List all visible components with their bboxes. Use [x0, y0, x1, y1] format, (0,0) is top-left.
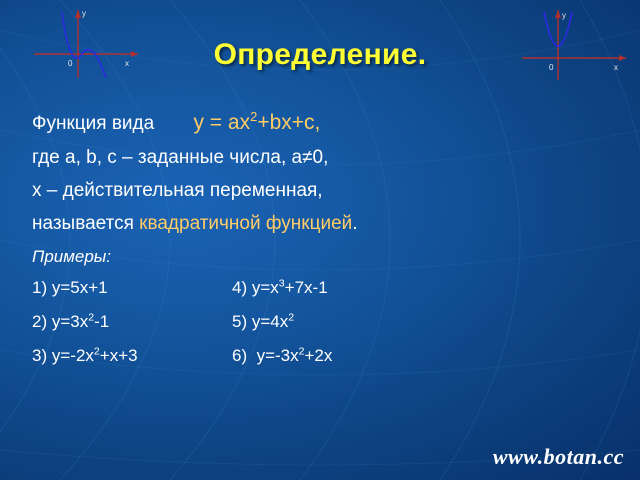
- example-base: y=4x: [252, 312, 288, 331]
- definition-line-4-prefix: называется: [32, 213, 139, 234]
- example-item: 2) y=3x2-1: [32, 312, 232, 332]
- example-number: 5): [232, 312, 247, 331]
- example-row: 3) y=-2x2+x+3 6) y=-3x2+2x: [32, 346, 624, 366]
- example-tail: +x+3: [100, 346, 138, 365]
- example-row: 1) y=5x+1 4) y=x3+7x-1: [32, 278, 624, 298]
- definition-line-1-prefix: Функция вида: [32, 113, 154, 134]
- definition-line-3: х – действительная переменная,: [32, 181, 624, 200]
- example-base: y=x: [252, 278, 279, 297]
- example-row: 2) y=3x2-1 5) y=4x2: [32, 312, 624, 332]
- page-title: Определение.: [0, 38, 640, 72]
- definition-line-1: Функция вида y = ax2+bx+c,: [32, 112, 624, 133]
- example-item: 5) y=4x2: [232, 312, 452, 332]
- example-item: 1) y=5x+1: [32, 278, 232, 298]
- axis-label-y-left: y: [82, 9, 86, 18]
- formula-base: y = ax: [193, 111, 250, 134]
- example-item: 3) y=-2x2+x+3: [32, 346, 232, 366]
- example-item: 4) y=x3+7x-1: [232, 278, 452, 298]
- site-watermark: www.botan.cc: [493, 444, 624, 470]
- example-exponent: 2: [288, 311, 294, 323]
- formula-tail: +bx+c,: [257, 111, 320, 134]
- example-tail: +7x-1: [285, 278, 328, 297]
- quadratic-formula: y = ax2+bx+c,: [159, 111, 320, 134]
- example-base: y=-2x: [52, 346, 94, 365]
- example-number: 6): [232, 346, 247, 365]
- example-base: y=3x: [52, 312, 88, 331]
- definition-line-4-highlight: квадратичной функцией: [139, 213, 352, 234]
- example-number: 1): [32, 278, 47, 297]
- example-base: y=-3x: [257, 346, 299, 365]
- axis-label-y-right: y: [562, 11, 566, 20]
- definition-line-4-suffix: .: [352, 213, 357, 234]
- definition-line-4: называется квадратичной функцией.: [32, 214, 624, 233]
- example-number: 3): [32, 346, 47, 365]
- definition-line-2: где a, b, c – заданные числа, a≠0,: [32, 148, 624, 167]
- slide: x y 0 x y 0 Определение. Функция вида y …: [0, 0, 640, 480]
- example-base: y=5x+1: [52, 278, 108, 297]
- examples-label: Примеры:: [32, 247, 624, 267]
- example-item: 6) y=-3x2+2x: [232, 346, 452, 366]
- example-tail: +2x: [304, 346, 332, 365]
- example-tail: -1: [94, 312, 109, 331]
- example-number: 4): [232, 278, 247, 297]
- example-number: 2): [32, 312, 47, 331]
- definition-body: Функция вида y = ax2+bx+c, где a, b, c –…: [32, 112, 624, 380]
